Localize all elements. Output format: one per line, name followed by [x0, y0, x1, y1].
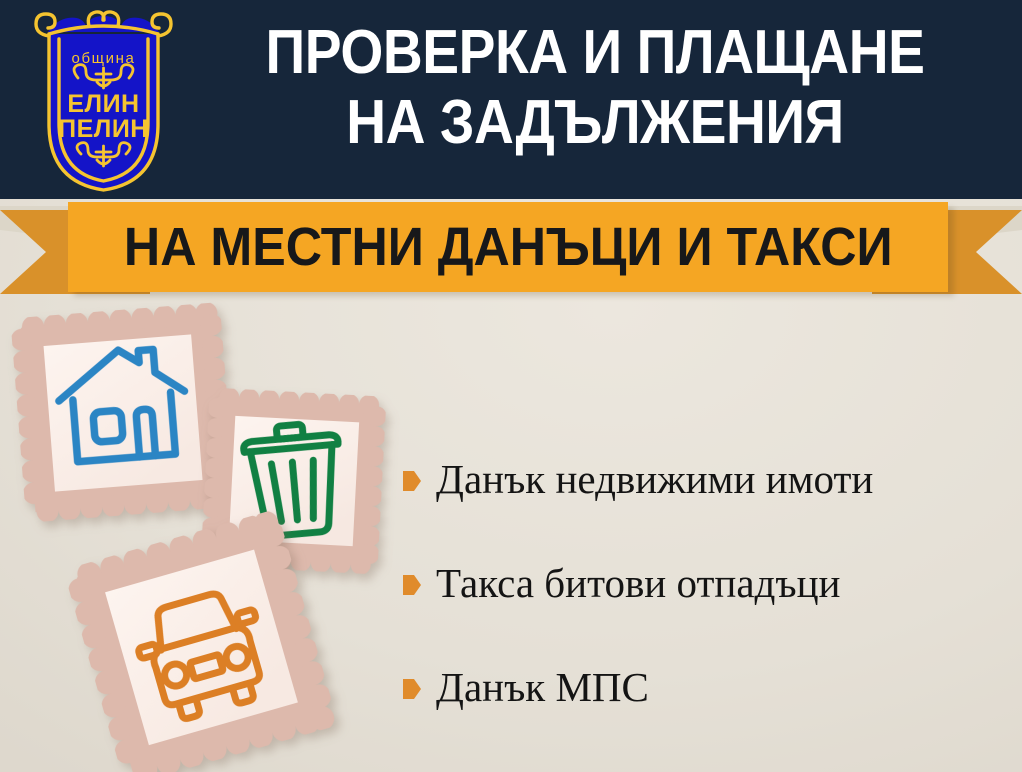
page-title: ПРОВЕРКА И ПЛАЩАНЕ НА ЗАДЪЛЖЕНИЯ [235, 18, 956, 158]
ribbon-banner: НА МЕСТНИ ДАНЪЦИ И ТАКСИ [0, 198, 1022, 298]
arrow-bullet-icon [402, 573, 422, 597]
list-item[interactable]: Данък МПС [402, 636, 1022, 740]
stamp-card-property-tax [10, 302, 235, 523]
page-title-line-1: ПРОВЕРКА И ПЛАЩАНЕ [266, 18, 925, 87]
list-item-label: Такса битови отпадъци [436, 562, 840, 605]
list-item-label: Данък МПС [436, 666, 649, 709]
crest-name-line-1: ЕЛИН [67, 90, 139, 118]
arrow-bullet-icon [402, 469, 422, 493]
crest-name-line-2: ПЕЛИН [58, 115, 149, 143]
stamp-cards-group [0, 300, 420, 772]
list-item[interactable]: Данък недвижими имоти [402, 428, 1022, 532]
list-item-label: Данък недвижими имоти [436, 458, 873, 501]
coat-of-arms-icon: община ЕЛИН ПЕЛИН [26, 6, 181, 192]
ribbon-text: НА МЕСТНИ ДАНЪЦИ И ТАКСИ [124, 216, 893, 278]
page-title-line-2: НА ЗАДЪЛЖЕНИЯ [235, 88, 956, 158]
ribbon-main-panel: НА МЕСТНИ ДАНЪЦИ И ТАКСИ [68, 202, 948, 292]
tax-types-list: Данък недвижими имоти Такса битови отпад… [402, 428, 1022, 740]
arrow-bullet-icon [402, 677, 422, 701]
list-item[interactable]: Такса битови отпадъци [402, 532, 1022, 636]
